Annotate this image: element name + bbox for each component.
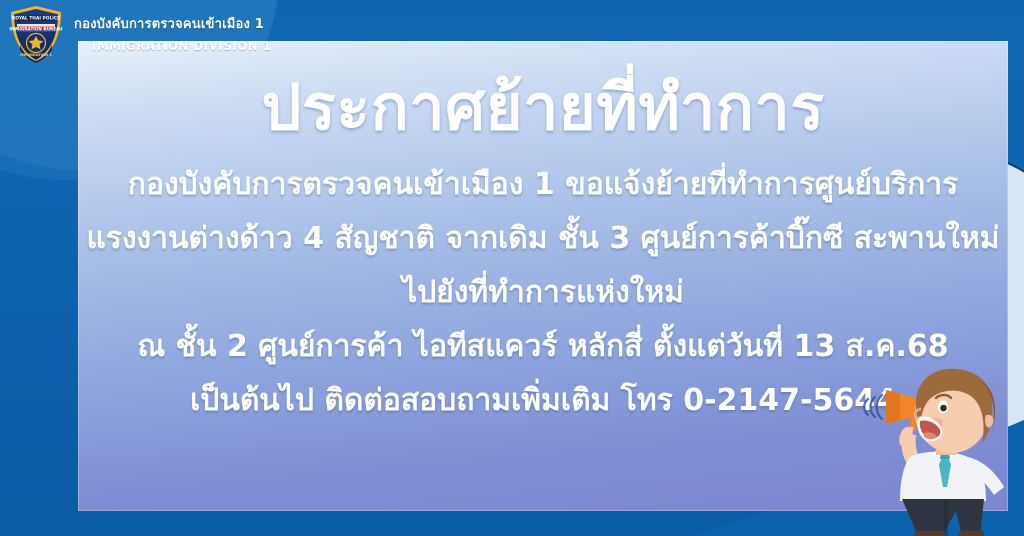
header-org-name-en: IMMIGRATION DIVISION 1 (92, 39, 272, 53)
header-org-block: กองบังคับการตรวจคนเข้าเมือง 1 IMMIGRATIO… (74, 17, 272, 54)
announcement-banner: ROYAL THAI POLICE IMMIGRATION BUREAU IMM… (0, 0, 1024, 536)
announcement-line-4: ณ ชั้น 2 ศูนย์การค้า ไอทีสแควร์ หลักสี่ … (137, 332, 948, 362)
announcement-title: ประกาศย้ายที่ทำการ (261, 73, 824, 144)
announcement-body: กองบังคับการตรวจคนเข้าเมือง 1 ขอแจ้งย้าย… (78, 170, 1008, 416)
header-org-name-th: กองบังคับการตรวจคนเข้าเมือง 1 (74, 17, 272, 33)
svg-text:ROYAL THAI POLICE: ROYAL THAI POLICE (12, 16, 60, 22)
announcement-line-3: ไปยังที่ทำการแห่งใหม่ (402, 278, 684, 308)
announcement-panel-inner: ประกาศย้ายที่ทำการ กองบังคับการตรวจคนเข้… (78, 41, 1008, 511)
royal-thai-police-immigration-badge-icon: ROYAL THAI POLICE IMMIGRATION BUREAU IMM… (8, 5, 64, 65)
announcement-line-2: แรงงานต่างด้าว 4 สัญชาติ จากเดิม ชั้น 3 … (86, 224, 999, 254)
announcement-line-5: เป็นต้นไป ติดต่อสอบถามเพิ่มเติม โทร 0-21… (190, 386, 896, 416)
announcement-line-1: กองบังคับการตรวจคนเข้าเมือง 1 ขอแจ้งย้าย… (128, 170, 958, 200)
site-header: ROYAL THAI POLICE IMMIGRATION BUREAU IMM… (0, 0, 1024, 70)
svg-text:IMMIGRATION 1: IMMIGRATION 1 (20, 53, 52, 57)
announcement-panel: ประกาศย้ายที่ทำการ กองบังคับการตรวจคนเข้… (78, 41, 1008, 511)
svg-text:IMMIGRATION BUREAU: IMMIGRATION BUREAU (9, 26, 63, 31)
